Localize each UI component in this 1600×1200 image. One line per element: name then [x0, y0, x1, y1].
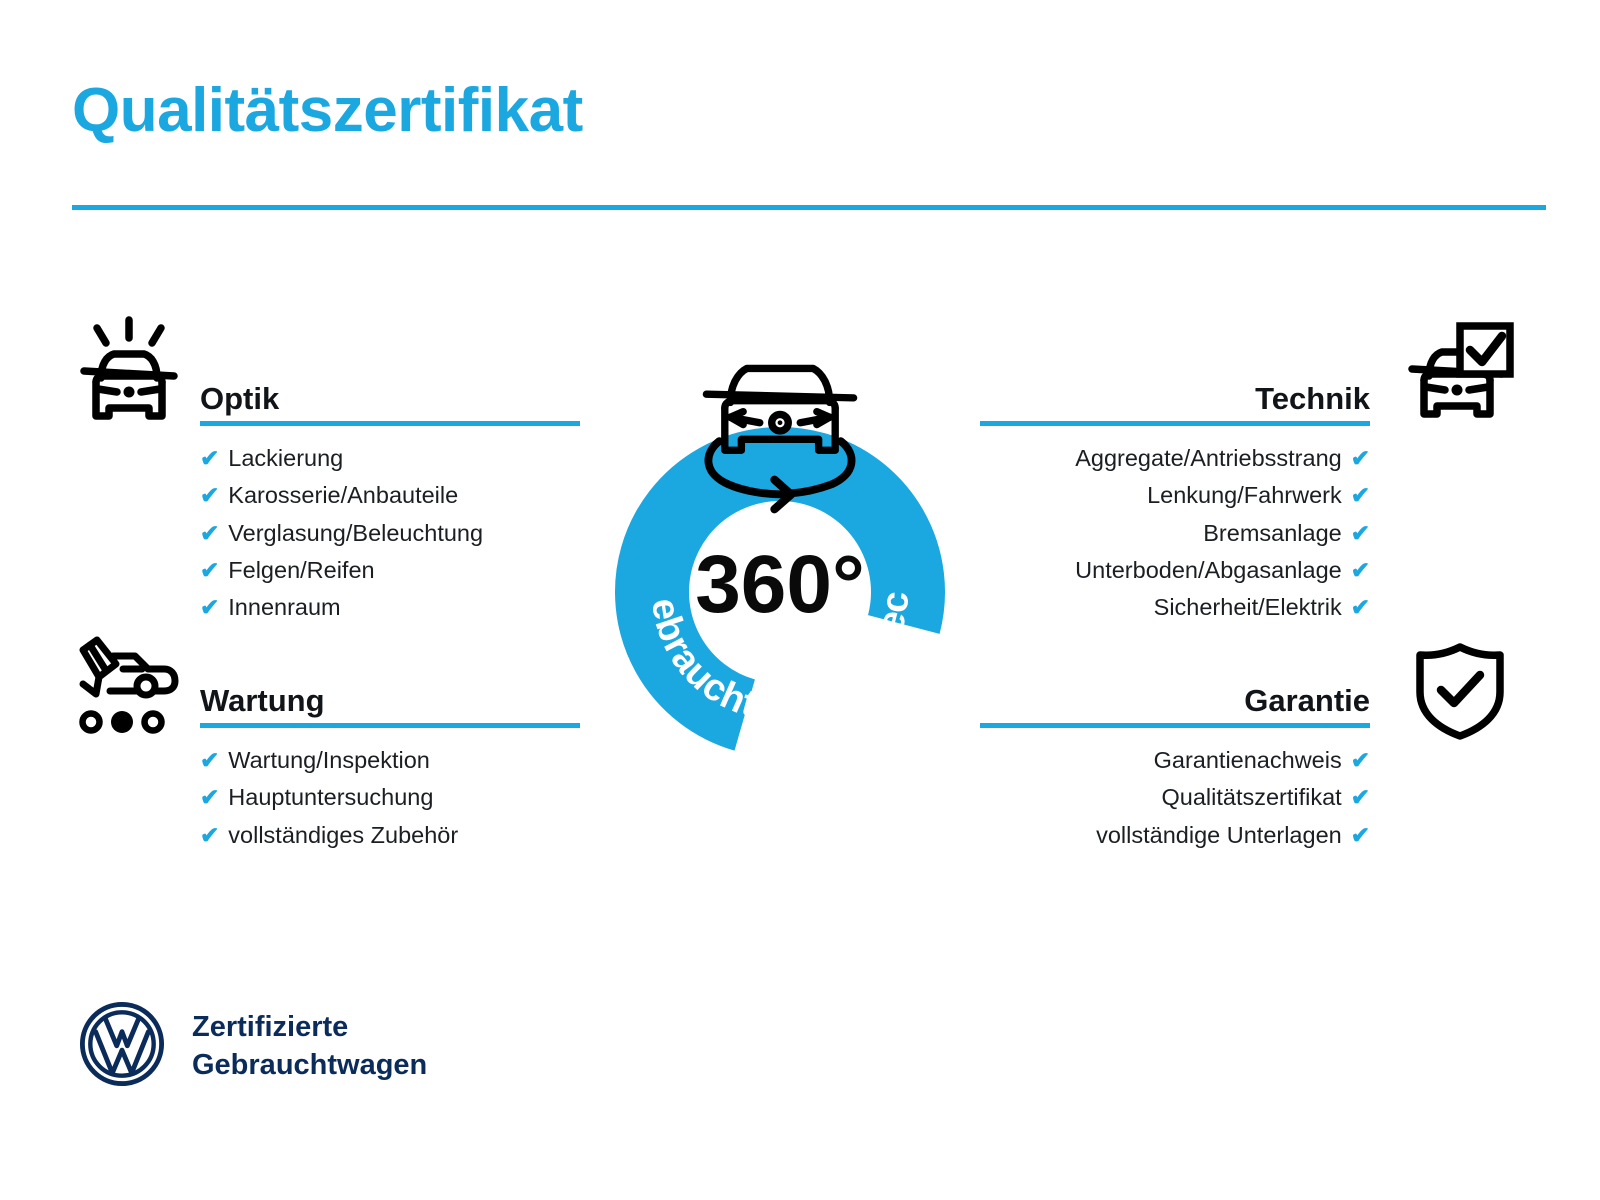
check-icon: ✔	[200, 749, 219, 772]
check-icon: ✔	[1351, 447, 1370, 470]
check-icon: ✔	[200, 447, 219, 470]
check-icon: ✔	[200, 484, 219, 507]
list-item-label: Lackierung	[228, 440, 343, 477]
section-head-wartung: Wartung	[200, 670, 580, 728]
list-item-label: Bremsanlage	[1203, 515, 1341, 552]
section-divider-wartung	[200, 723, 580, 728]
list-item-label: Felgen/Reifen	[228, 552, 374, 589]
car-front-checkbox-icon	[1398, 322, 1516, 435]
list-item-label: Innenraum	[228, 589, 340, 626]
section-wartung: Wartung ✔ Wartung/Inspektion ✔ Hauptunte…	[200, 670, 580, 854]
list-item-label: Garantienachweis	[1154, 742, 1342, 779]
car-front-shine-icon	[70, 316, 188, 433]
footer-brand-lockup: Zertifizierte Gebrauchtwagen	[78, 1000, 427, 1093]
list-item-label: Wartung/Inspektion	[228, 742, 430, 779]
section-title-wartung: Wartung	[200, 685, 325, 716]
list-item: ✔ vollständiges Zubehör	[200, 817, 580, 854]
360-check-badge: Gebrauchtwagen-Check 360°	[560, 300, 1000, 760]
section-title-garantie: Garantie	[1244, 685, 1370, 716]
list-item-label: Karosserie/Anbauteile	[228, 477, 458, 514]
shield-check-icon	[1412, 642, 1508, 745]
footer-line-2: Gebrauchtwagen	[192, 1047, 427, 1084]
section-garantie: Garantie Garantienachweis ✔ Qualitätszer…	[980, 670, 1370, 854]
section-optik: Optik ✔ Lackierung ✔ Karosserie/Anbautei…	[200, 368, 580, 627]
volkswagen-logo	[78, 1000, 166, 1093]
page-title: Qualitätszertifikat	[72, 78, 583, 143]
section-title-technik: Technik	[1255, 383, 1370, 414]
list-item: Lenkung/Fahrwerk ✔	[980, 477, 1370, 514]
check-icon: ✔	[1351, 749, 1370, 772]
list-item-label: vollständige Unterlagen	[1096, 817, 1342, 854]
list-item: ✔ Lackierung	[200, 440, 580, 477]
check-icon: ✔	[1351, 824, 1370, 847]
list-item-label: Lenkung/Fahrwerk	[1147, 477, 1342, 514]
list-item-label: Unterboden/Abgasanlage	[1075, 552, 1342, 589]
list-item: Qualitätszertifikat ✔	[980, 779, 1370, 816]
list-item: ✔ Wartung/Inspektion	[200, 742, 580, 779]
check-icon: ✔	[1351, 484, 1370, 507]
section-divider-optik	[200, 421, 580, 426]
check-icon: ✔	[200, 786, 219, 809]
check-icon: ✔	[1351, 559, 1370, 582]
section-head-technik: Technik	[980, 368, 1370, 426]
check-icon: ✔	[200, 596, 219, 619]
list-item: ✔ Hauptuntersuchung	[200, 779, 580, 816]
list-item-label: Sicherheit/Elektrik	[1154, 589, 1342, 626]
list-item-label: Hauptuntersuchung	[228, 779, 433, 816]
list-item: Aggregate/Antriebsstrang ✔	[980, 440, 1370, 477]
list-item: ✔ Felgen/Reifen	[200, 552, 580, 589]
section-head-garantie: Garantie	[980, 670, 1370, 728]
footer-text-block: Zertifizierte Gebrauchtwagen	[192, 1009, 427, 1083]
list-item: Sicherheit/Elektrik ✔	[980, 589, 1370, 626]
list-item: Garantienachweis ✔	[980, 742, 1370, 779]
section-title-optik: Optik	[200, 383, 279, 414]
check-icon: ✔	[200, 824, 219, 847]
list-item: vollständige Unterlagen ✔	[980, 817, 1370, 854]
checklist-technik: Aggregate/Antriebsstrang ✔ Lenkung/Fahrw…	[980, 426, 1370, 627]
list-item-label: vollständiges Zubehör	[228, 817, 458, 854]
list-item: ✔ Verglasung/Beleuchtung	[200, 515, 580, 552]
footer-line-1: Zertifizierte	[192, 1009, 427, 1046]
section-divider-garantie	[980, 723, 1370, 728]
car-service-pencil-icon	[72, 636, 184, 741]
check-icon: ✔	[200, 559, 219, 582]
section-head-optik: Optik	[200, 368, 580, 426]
header-divider	[72, 205, 1546, 210]
check-icon: ✔	[1351, 786, 1370, 809]
badge-center-label: 360°	[695, 539, 865, 630]
list-item: ✔ Innenraum	[200, 589, 580, 626]
certificate-page: Qualitätszertifikat Optik ✔	[0, 0, 1600, 1200]
checklist-garantie: Garantienachweis ✔ Qualitätszertifikat ✔…	[980, 728, 1370, 854]
list-item-label: Qualitätszertifikat	[1161, 779, 1341, 816]
check-icon: ✔	[200, 522, 219, 545]
list-item: Unterboden/Abgasanlage ✔	[980, 552, 1370, 589]
section-divider-technik	[980, 421, 1370, 426]
checklist-wartung: ✔ Wartung/Inspektion ✔ Hauptuntersuchung…	[200, 728, 580, 854]
check-icon: ✔	[1351, 522, 1370, 545]
section-technik: Technik Aggregate/Antriebsstrang ✔ Lenku…	[980, 368, 1370, 627]
list-item: ✔ Karosserie/Anbauteile	[200, 477, 580, 514]
check-icon: ✔	[1351, 596, 1370, 619]
list-item: Bremsanlage ✔	[980, 515, 1370, 552]
list-item-label: Verglasung/Beleuchtung	[228, 515, 483, 552]
list-item-label: Aggregate/Antriebsstrang	[1075, 440, 1342, 477]
checklist-optik: ✔ Lackierung ✔ Karosserie/Anbauteile ✔ V…	[200, 426, 580, 627]
